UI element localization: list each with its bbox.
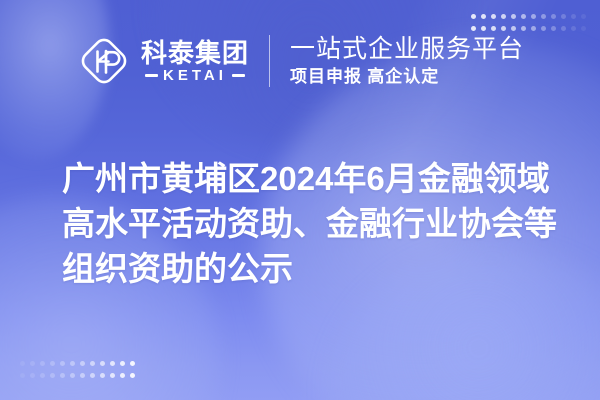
dot — [130, 361, 135, 366]
title-line-3: 组织资助的公示 — [62, 246, 562, 291]
banner-header: 科泰集团 KETAI 一站式企业服务平台 项目申报 高企认定 — [0, 0, 600, 122]
tagline-sub: 项目申报 高企认定 — [290, 68, 524, 86]
brand-name-en: KETAI — [163, 68, 227, 83]
dot — [50, 373, 55, 378]
dot — [40, 373, 45, 378]
dot — [20, 361, 25, 366]
dot — [100, 373, 105, 378]
dot — [110, 361, 115, 366]
dot — [130, 373, 135, 378]
dot — [120, 361, 125, 366]
dot — [80, 373, 85, 378]
dot — [40, 361, 45, 366]
dot — [70, 361, 75, 366]
dash-icon-left — [145, 74, 158, 77]
dot — [30, 361, 35, 366]
dot — [20, 373, 25, 378]
promo-banner: 科泰集团 KETAI 一站式企业服务平台 项目申报 高企认定 广州市黄埔区202… — [0, 0, 600, 400]
dot — [90, 373, 95, 378]
dot — [100, 361, 105, 366]
dot — [120, 373, 125, 378]
title-line-1: 广州市黄埔区2024年6月金融领域 — [62, 156, 562, 201]
ketai-kp-monogram-icon — [76, 33, 132, 89]
header-divider — [269, 35, 270, 87]
brand-logo[interactable]: 科泰集团 KETAI — [76, 33, 249, 89]
dot — [60, 373, 65, 378]
dot — [60, 361, 65, 366]
dot — [30, 373, 35, 378]
dot — [80, 361, 85, 366]
dash-icon-right — [232, 74, 245, 77]
title-line-2: 高水平活动资助、金融行业协会等 — [62, 201, 562, 246]
dot-grid-bottom-left — [20, 361, 135, 378]
page-title: 广州市黄埔区2024年6月金融领域 高水平活动资助、金融行业协会等 组织资助的公… — [62, 156, 562, 291]
dot-row — [20, 361, 135, 366]
dot — [70, 373, 75, 378]
dot-row — [20, 373, 135, 378]
dot — [90, 361, 95, 366]
header-tagline: 一站式企业服务平台 项目申报 高企认定 — [290, 36, 524, 86]
dot — [110, 373, 115, 378]
dot — [50, 361, 55, 366]
tagline-main: 一站式企业服务平台 — [290, 36, 524, 63]
brand-name-cn: 科泰集团 — [141, 40, 249, 66]
